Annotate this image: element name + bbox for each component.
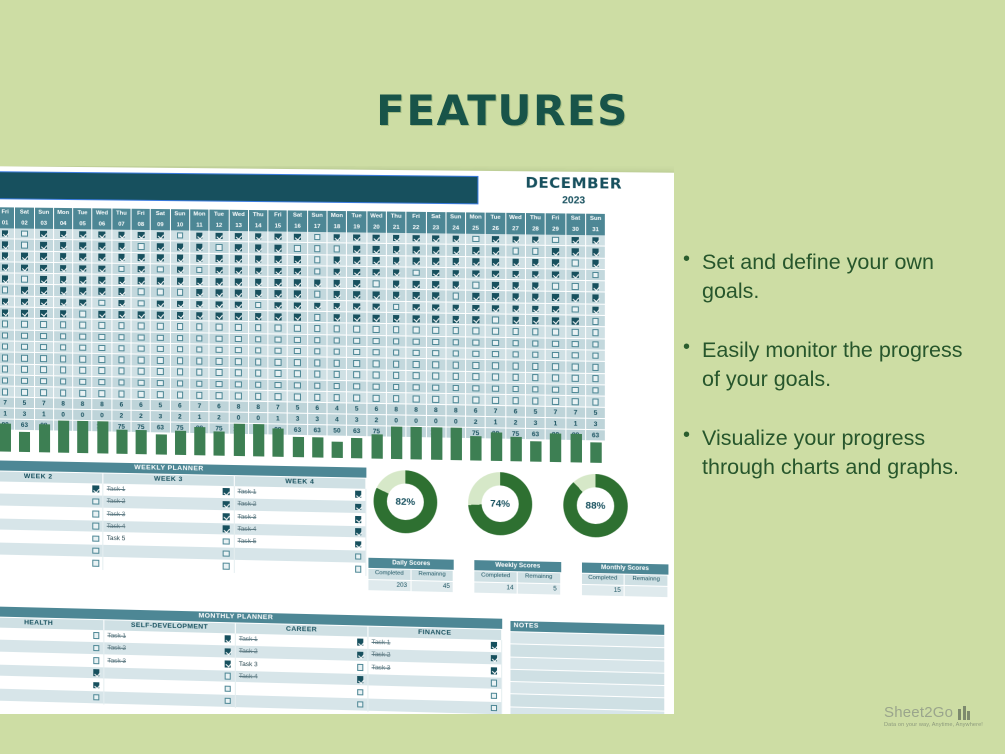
goal-checkbox[interactable] (274, 347, 281, 354)
goal-checkbox[interactable] (40, 265, 47, 272)
cal-cell[interactable] (466, 268, 486, 280)
goal-checkbox[interactable] (79, 390, 86, 397)
cal-cell[interactable] (407, 313, 427, 325)
task-checkbox[interactable] (223, 526, 230, 533)
notes-rows[interactable] (510, 632, 664, 714)
cal-cell[interactable] (308, 289, 328, 301)
cal-cell[interactable] (54, 252, 73, 264)
goal-checkbox[interactable] (492, 328, 499, 335)
cal-cell[interactable] (566, 385, 586, 397)
cal-cell[interactable] (132, 343, 151, 355)
cal-cell[interactable] (229, 242, 249, 254)
goal-checkbox[interactable] (99, 356, 106, 363)
cal-cell[interactable] (171, 230, 191, 242)
goal-checkbox[interactable] (99, 231, 106, 238)
goal-checkbox[interactable] (294, 393, 301, 400)
goal-checkbox[interactable] (79, 310, 86, 317)
goal-checkbox[interactable] (314, 325, 321, 332)
cal-cell[interactable] (387, 393, 407, 405)
cal-cell[interactable] (210, 379, 230, 391)
goal-checkbox[interactable] (373, 349, 380, 356)
goal-checkbox[interactable] (413, 361, 420, 368)
cal-cell[interactable] (506, 361, 526, 373)
goal-checkbox[interactable] (353, 314, 360, 321)
cal-cell[interactable] (566, 327, 586, 339)
goal-checkbox[interactable] (314, 268, 321, 275)
goal-checkbox[interactable] (393, 258, 400, 265)
monthly-planner[interactable]: MONTHLY PLANNER HEALTHSELF-DEVELOPMENTCA… (0, 606, 502, 714)
task-checkbox-cell[interactable] (351, 503, 365, 510)
goal-checkbox[interactable] (2, 355, 9, 362)
task-checkbox-cell[interactable] (219, 538, 233, 545)
cal-cell[interactable] (210, 322, 230, 334)
cal-cell[interactable] (586, 373, 606, 385)
cal-cell[interactable] (347, 255, 367, 267)
cal-cell[interactable] (229, 345, 249, 357)
goal-checkbox[interactable] (255, 256, 262, 263)
cal-cell[interactable] (526, 338, 546, 350)
cal-cell[interactable] (269, 243, 289, 255)
goal-checkbox[interactable] (60, 310, 67, 317)
goal-checkbox[interactable] (452, 293, 459, 300)
cal-cell[interactable] (112, 286, 131, 298)
goal-checkbox[interactable] (492, 397, 499, 404)
goal-checkbox[interactable] (592, 398, 599, 405)
goal-checkbox[interactable] (21, 310, 28, 317)
cal-cell[interactable] (190, 242, 210, 254)
goal-checkbox[interactable] (196, 346, 203, 353)
goal-checkbox[interactable] (452, 304, 459, 311)
cal-cell[interactable] (151, 241, 171, 253)
goal-checkbox[interactable] (21, 230, 28, 237)
cal-cell[interactable] (171, 276, 191, 288)
goal-checkbox[interactable] (552, 386, 559, 393)
cal-cell[interactable] (506, 338, 526, 350)
cal-cell[interactable] (407, 336, 427, 348)
cal-cell[interactable] (506, 372, 526, 384)
goal-checkbox[interactable] (432, 270, 439, 277)
task-checkbox-cell[interactable] (487, 667, 501, 674)
goal-checkbox[interactable] (472, 293, 479, 300)
goal-checkbox[interactable] (353, 383, 360, 390)
cal-cell[interactable] (426, 245, 446, 257)
goal-checkbox[interactable] (393, 246, 400, 253)
goal-checkbox[interactable] (40, 242, 47, 249)
goal-checkbox[interactable] (314, 314, 321, 321)
cal-cell[interactable] (308, 392, 328, 404)
cal-cell[interactable] (229, 368, 249, 380)
goal-checkbox[interactable] (294, 245, 301, 252)
goal-checkbox[interactable] (532, 236, 539, 243)
goal-checkbox[interactable] (572, 387, 579, 394)
goal-checkbox[interactable] (118, 243, 125, 250)
goal-checkbox[interactable] (235, 324, 242, 331)
goal-checkbox[interactable] (373, 372, 380, 379)
goal-checkbox[interactable] (393, 372, 400, 379)
goal-checkbox[interactable] (255, 245, 262, 252)
cal-cell[interactable] (73, 354, 92, 366)
cal-cell[interactable] (407, 382, 427, 394)
goal-checkbox[interactable] (492, 293, 499, 300)
goal-checkbox[interactable] (452, 373, 459, 380)
goal-checkbox[interactable] (177, 323, 184, 330)
task-checkbox-cell[interactable] (351, 528, 365, 535)
goal-checkbox[interactable] (79, 231, 86, 238)
goal-checkbox[interactable] (512, 271, 519, 278)
task-checkbox[interactable] (92, 547, 99, 554)
goal-checkbox[interactable] (294, 336, 301, 343)
cal-cell[interactable] (190, 344, 210, 356)
cal-cell[interactable] (566, 246, 586, 258)
cal-cell[interactable] (426, 291, 446, 303)
goal-checkbox[interactable] (40, 344, 47, 351)
cal-cell[interactable] (190, 333, 210, 345)
task-checkbox[interactable] (357, 689, 364, 696)
cal-cell[interactable] (93, 252, 112, 264)
task-checkbox-cell[interactable] (487, 705, 501, 712)
cal-cell[interactable] (73, 365, 92, 377)
goal-checkbox[interactable] (2, 253, 9, 260)
cal-cell[interactable] (35, 319, 54, 331)
cal-cell[interactable] (190, 378, 210, 390)
goal-checkbox[interactable] (99, 379, 106, 386)
cal-cell[interactable] (132, 332, 151, 344)
goal-checkbox[interactable] (118, 266, 125, 273)
goal-checkbox[interactable] (79, 265, 86, 272)
cal-cell[interactable] (586, 327, 606, 339)
goal-checkbox[interactable] (353, 246, 360, 253)
goal-checkbox[interactable] (413, 315, 420, 322)
cal-cell[interactable] (466, 337, 486, 349)
goal-checkbox[interactable] (432, 304, 439, 311)
cal-cell[interactable] (0, 387, 15, 399)
goal-checkbox[interactable] (196, 335, 203, 342)
cal-cell[interactable] (288, 277, 308, 289)
cal-cell[interactable] (446, 348, 466, 360)
goal-checkbox[interactable] (216, 347, 223, 354)
goal-checkbox[interactable] (177, 289, 184, 296)
cal-cell[interactable] (308, 300, 328, 312)
goal-checkbox[interactable] (255, 359, 262, 366)
goal-checkbox[interactable] (216, 392, 223, 399)
goal-checkbox[interactable] (592, 375, 599, 382)
cal-cell[interactable] (426, 348, 446, 360)
cal-cell[interactable] (288, 380, 308, 392)
goal-checkbox[interactable] (532, 397, 539, 404)
goal-checkbox[interactable] (60, 287, 67, 294)
cal-cell[interactable] (35, 297, 54, 309)
goal-checkbox[interactable] (255, 279, 262, 286)
task-checkbox-cell[interactable] (89, 694, 103, 701)
goal-checkbox[interactable] (177, 300, 184, 307)
task-checkbox[interactable] (355, 491, 362, 498)
task-checkbox[interactable] (92, 486, 99, 493)
cal-cell[interactable] (190, 265, 210, 277)
task-checkbox-cell[interactable] (353, 689, 367, 696)
goal-checkbox[interactable] (196, 289, 203, 296)
goal-checkbox[interactable] (572, 294, 579, 301)
goal-checkbox[interactable] (118, 254, 125, 261)
goal-checkbox[interactable] (432, 361, 439, 368)
cal-cell[interactable] (526, 395, 546, 407)
cal-cell[interactable] (269, 391, 289, 403)
goal-checkbox[interactable] (274, 325, 281, 332)
cal-cell[interactable] (229, 311, 249, 323)
cal-cell[interactable] (93, 388, 112, 400)
goal-checkbox[interactable] (118, 288, 125, 295)
goal-checkbox[interactable] (157, 346, 164, 353)
goal-checkbox[interactable] (353, 372, 360, 379)
goal-checkbox[interactable] (294, 302, 301, 309)
goal-checkbox[interactable] (592, 329, 599, 336)
goal-checkbox[interactable] (40, 231, 47, 238)
cal-cell[interactable] (132, 253, 151, 265)
goal-checkbox[interactable] (294, 314, 301, 321)
cal-cell[interactable] (446, 383, 466, 395)
task-checkbox[interactable] (223, 538, 230, 545)
cal-cell[interactable] (249, 368, 269, 380)
cal-cell[interactable] (328, 381, 348, 393)
goal-checkbox[interactable] (274, 359, 281, 366)
goal-checkbox[interactable] (492, 270, 499, 277)
cal-cell[interactable] (586, 362, 606, 374)
cal-cell[interactable] (15, 285, 34, 297)
goal-checkbox[interactable] (79, 322, 86, 329)
goal-checkbox[interactable] (572, 352, 579, 359)
cal-cell[interactable] (367, 347, 387, 359)
goal-checkbox[interactable] (552, 248, 559, 255)
cal-cell[interactable] (546, 292, 566, 304)
cal-cell[interactable] (54, 286, 73, 298)
goal-checkbox[interactable] (60, 254, 67, 261)
goal-checkbox[interactable] (314, 394, 321, 401)
goal-checkbox[interactable] (21, 366, 28, 373)
cal-cell[interactable] (0, 341, 15, 353)
goal-checkbox[interactable] (216, 233, 223, 240)
task-checkbox[interactable] (92, 510, 99, 517)
cal-cell[interactable] (229, 254, 249, 266)
cal-cell[interactable] (367, 370, 387, 382)
cal-cell[interactable] (171, 333, 191, 345)
cal-cell[interactable] (407, 290, 427, 302)
task-checkbox-cell[interactable] (221, 635, 235, 642)
cal-cell[interactable] (526, 361, 546, 373)
goal-checkbox[interactable] (99, 299, 106, 306)
task-checkbox[interactable] (223, 488, 230, 495)
goal-checkbox[interactable] (294, 291, 301, 298)
goal-checkbox[interactable] (2, 298, 9, 305)
goal-checkbox[interactable] (572, 271, 579, 278)
task-checkbox[interactable] (224, 660, 231, 667)
goal-checkbox[interactable] (373, 269, 380, 276)
goal-checkbox[interactable] (532, 271, 539, 278)
cal-cell[interactable] (367, 381, 387, 393)
cal-cell[interactable] (308, 323, 328, 335)
cal-cell[interactable] (15, 330, 34, 342)
goal-checkbox[interactable] (99, 333, 106, 340)
goal-checkbox[interactable] (432, 373, 439, 380)
goal-checkbox[interactable] (413, 235, 420, 242)
task-checkbox[interactable] (93, 657, 100, 664)
cal-cell[interactable] (249, 357, 269, 369)
task-checkbox-cell[interactable] (221, 685, 235, 692)
task-checkbox-cell[interactable] (487, 642, 501, 649)
goal-checkbox[interactable] (532, 294, 539, 301)
cal-cell[interactable] (546, 258, 566, 270)
goal-checkbox[interactable] (413, 384, 420, 391)
goal-checkbox[interactable] (235, 358, 242, 365)
cal-cell[interactable] (151, 264, 171, 276)
goal-checkbox[interactable] (79, 356, 86, 363)
goal-checkbox[interactable] (40, 299, 47, 306)
task-checkbox[interactable] (491, 667, 498, 674)
goal-checkbox[interactable] (216, 358, 223, 365)
cal-cell[interactable] (466, 394, 486, 406)
goal-checkbox[interactable] (235, 370, 242, 377)
cal-cell[interactable] (426, 382, 446, 394)
cal-cell[interactable] (308, 335, 328, 347)
task-checkbox-cell[interactable] (219, 501, 233, 508)
goal-checkbox[interactable] (314, 359, 321, 366)
goal-checkbox[interactable] (255, 313, 262, 320)
cal-cell[interactable] (249, 254, 269, 266)
goal-checkbox[interactable] (393, 303, 400, 310)
cal-cell[interactable] (426, 314, 446, 326)
goal-checkbox[interactable] (21, 264, 28, 271)
cal-cell[interactable] (269, 266, 289, 278)
task-checkbox[interactable] (224, 673, 231, 680)
goal-checkbox[interactable] (353, 337, 360, 344)
goal-checkbox[interactable] (552, 352, 559, 359)
cal-cell[interactable] (288, 391, 308, 403)
cal-cell[interactable] (229, 288, 249, 300)
goal-checkbox[interactable] (492, 305, 499, 312)
cal-cell[interactable] (151, 287, 171, 299)
goal-checkbox[interactable] (294, 256, 301, 263)
goal-checkbox[interactable] (235, 244, 242, 251)
goal-checkbox[interactable] (2, 230, 9, 237)
goal-checkbox[interactable] (196, 232, 203, 239)
cal-cell[interactable] (0, 273, 15, 285)
goal-checkbox[interactable] (21, 332, 28, 339)
goal-checkbox[interactable] (196, 267, 203, 274)
cal-cell[interactable] (328, 301, 348, 313)
cal-cell[interactable] (446, 234, 466, 246)
goal-checkbox[interactable] (138, 323, 145, 330)
goal-checkbox[interactable] (216, 255, 223, 262)
task-checkbox[interactable] (357, 701, 364, 708)
goal-checkbox[interactable] (274, 268, 281, 275)
goal-checkbox[interactable] (79, 333, 86, 340)
goal-checkbox[interactable] (572, 237, 579, 244)
cal-cell[interactable] (308, 358, 328, 370)
goal-checkbox[interactable] (138, 311, 145, 318)
task-checkbox-cell[interactable] (487, 680, 501, 687)
cal-cell[interactable] (269, 368, 289, 380)
cal-cell[interactable] (446, 325, 466, 337)
goal-checkbox[interactable] (572, 375, 579, 382)
calendar-grid[interactable]: FriSatSunMonTueWedThuFriSatSunMonTueWedT… (0, 207, 674, 444)
goal-checkbox[interactable] (216, 381, 223, 388)
task-checkbox-cell[interactable] (89, 535, 103, 542)
goal-checkbox[interactable] (532, 282, 539, 289)
cal-cell[interactable] (210, 310, 230, 322)
goal-checkbox[interactable] (472, 305, 479, 312)
goal-checkbox[interactable] (334, 371, 341, 378)
cal-cell[interactable] (426, 336, 446, 348)
goal-checkbox[interactable] (235, 256, 242, 263)
goal-checkbox[interactable] (552, 375, 559, 382)
cal-cell[interactable] (526, 384, 546, 396)
cal-cell[interactable] (446, 268, 466, 280)
task-checkbox-cell[interactable] (221, 648, 235, 655)
cal-cell[interactable] (328, 335, 348, 347)
cal-cell[interactable] (229, 334, 249, 346)
goal-checkbox[interactable] (512, 340, 519, 347)
cal-cell[interactable] (112, 320, 131, 332)
cal-cell[interactable] (190, 231, 210, 243)
cal-cell[interactable] (566, 258, 586, 270)
cal-cell[interactable] (486, 268, 506, 280)
cal-cell[interactable] (249, 231, 269, 243)
cal-cell[interactable] (151, 298, 171, 310)
cal-cell[interactable] (15, 262, 34, 274)
goal-checkbox[interactable] (40, 287, 47, 294)
goal-checkbox[interactable] (99, 265, 106, 272)
goal-checkbox[interactable] (235, 278, 242, 285)
cal-cell[interactable] (171, 389, 191, 401)
goal-checkbox[interactable] (60, 333, 67, 340)
goal-checkbox[interactable] (157, 277, 164, 284)
goal-checkbox[interactable] (118, 232, 125, 239)
goal-checkbox[interactable] (512, 236, 519, 243)
cal-cell[interactable] (466, 314, 486, 326)
cal-cell[interactable] (249, 345, 269, 357)
goal-checkbox[interactable] (235, 392, 242, 399)
cal-cell[interactable] (486, 314, 506, 326)
cal-cell[interactable] (347, 358, 367, 370)
cal-cell[interactable] (249, 322, 269, 334)
cal-cell[interactable] (73, 229, 92, 241)
goal-checkbox[interactable] (393, 281, 400, 288)
cal-cell[interactable] (566, 396, 586, 408)
cal-cell[interactable] (586, 396, 606, 408)
goal-checkbox[interactable] (592, 283, 599, 290)
task-checkbox-cell[interactable] (353, 664, 367, 671)
goal-checkbox[interactable] (572, 260, 579, 267)
task-checkbox[interactable] (223, 550, 230, 557)
goal-checkbox[interactable] (532, 340, 539, 347)
cal-cell[interactable] (328, 278, 348, 290)
goal-checkbox[interactable] (373, 235, 380, 242)
cal-cell[interactable] (446, 371, 466, 383)
task-checkbox[interactable] (357, 651, 364, 658)
cal-cell[interactable] (546, 373, 566, 385)
goal-checkbox[interactable] (40, 321, 47, 328)
task-checkbox-cell[interactable] (219, 525, 233, 532)
goal-checkbox[interactable] (60, 389, 67, 396)
cal-cell[interactable] (35, 274, 54, 286)
cal-cell[interactable] (0, 228, 15, 240)
goal-checkbox[interactable] (177, 255, 184, 262)
goal-checkbox[interactable] (118, 311, 125, 318)
cal-cell[interactable] (190, 322, 210, 334)
goal-checkbox[interactable] (353, 326, 360, 333)
goal-checkbox[interactable] (452, 270, 459, 277)
goal-checkbox[interactable] (138, 254, 145, 261)
cal-cell[interactable] (93, 286, 112, 298)
cal-cell[interactable] (190, 390, 210, 402)
